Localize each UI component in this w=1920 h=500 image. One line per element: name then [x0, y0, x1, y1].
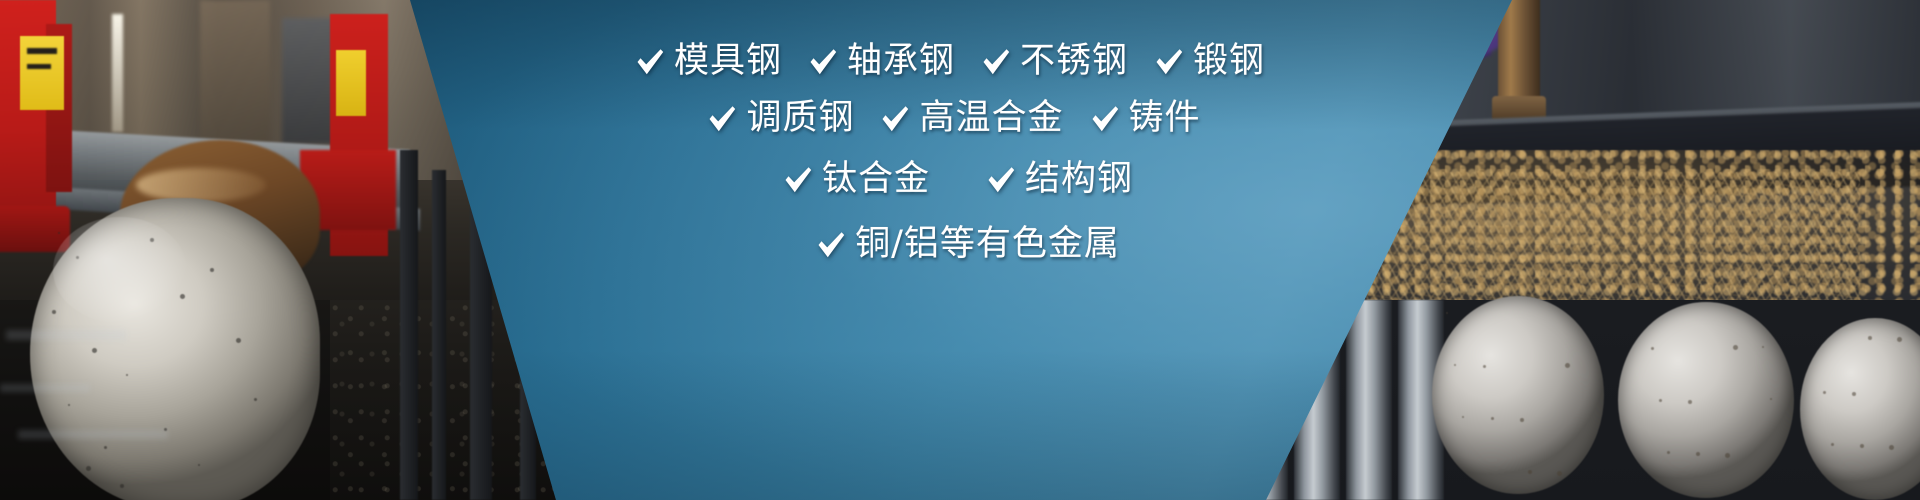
category-label: 不锈钢: [1020, 44, 1128, 79]
category-item-forged-steel[interactable]: 锻钢: [1154, 44, 1265, 79]
category-item-castings[interactable]: 铸件: [1090, 101, 1201, 136]
check-icon: [816, 230, 846, 260]
check-icon: [635, 47, 665, 77]
category-row-4: 铜/铝等有色金属: [803, 227, 1133, 262]
category-item-titanium-alloy[interactable]: 钛合金: [783, 162, 930, 197]
check-icon: [1154, 47, 1184, 77]
category-label: 铸件: [1129, 101, 1201, 136]
category-label: 调质钢: [746, 101, 854, 136]
check-icon: [981, 47, 1011, 77]
category-label: 轴承钢: [847, 44, 955, 79]
check-icon: [1090, 104, 1120, 134]
check-icon: [880, 104, 910, 134]
category-item-superalloy[interactable]: 高温合金: [880, 101, 1063, 136]
category-label: 高温合金: [919, 101, 1063, 136]
category-label: 锻钢: [1193, 44, 1265, 79]
category-row-3: 钛合金 结构钢: [755, 162, 1161, 197]
category-label: 结构钢: [1025, 162, 1133, 197]
category-item-structural-steel[interactable]: 结构钢: [986, 162, 1133, 197]
category-row-1: 模具钢 轴承钢 不锈钢 锻钢: [622, 44, 1278, 79]
category-row-2: 调质钢 高温合金 铸件: [694, 101, 1213, 136]
check-icon: [707, 104, 737, 134]
category-label: 模具钢: [674, 44, 782, 79]
category-item-quenched-tempered-steel[interactable]: 调质钢: [707, 101, 854, 136]
category-label: 钛合金: [822, 162, 930, 197]
check-icon: [986, 165, 1016, 195]
category-item-nonferrous-metals[interactable]: 铜/铝等有色金属: [816, 227, 1120, 262]
check-icon: [808, 47, 838, 77]
category-label: 铜/铝等有色金属: [855, 227, 1120, 262]
category-list: 模具钢 轴承钢 不锈钢 锻钢: [0, 0, 1920, 500]
product-category-banner: 模具钢 轴承钢 不锈钢 锻钢: [0, 0, 1920, 500]
category-item-bearing-steel[interactable]: 轴承钢: [808, 44, 955, 79]
category-item-stainless-steel[interactable]: 不锈钢: [981, 44, 1128, 79]
category-item-mold-steel[interactable]: 模具钢: [635, 44, 782, 79]
check-icon: [783, 165, 813, 195]
